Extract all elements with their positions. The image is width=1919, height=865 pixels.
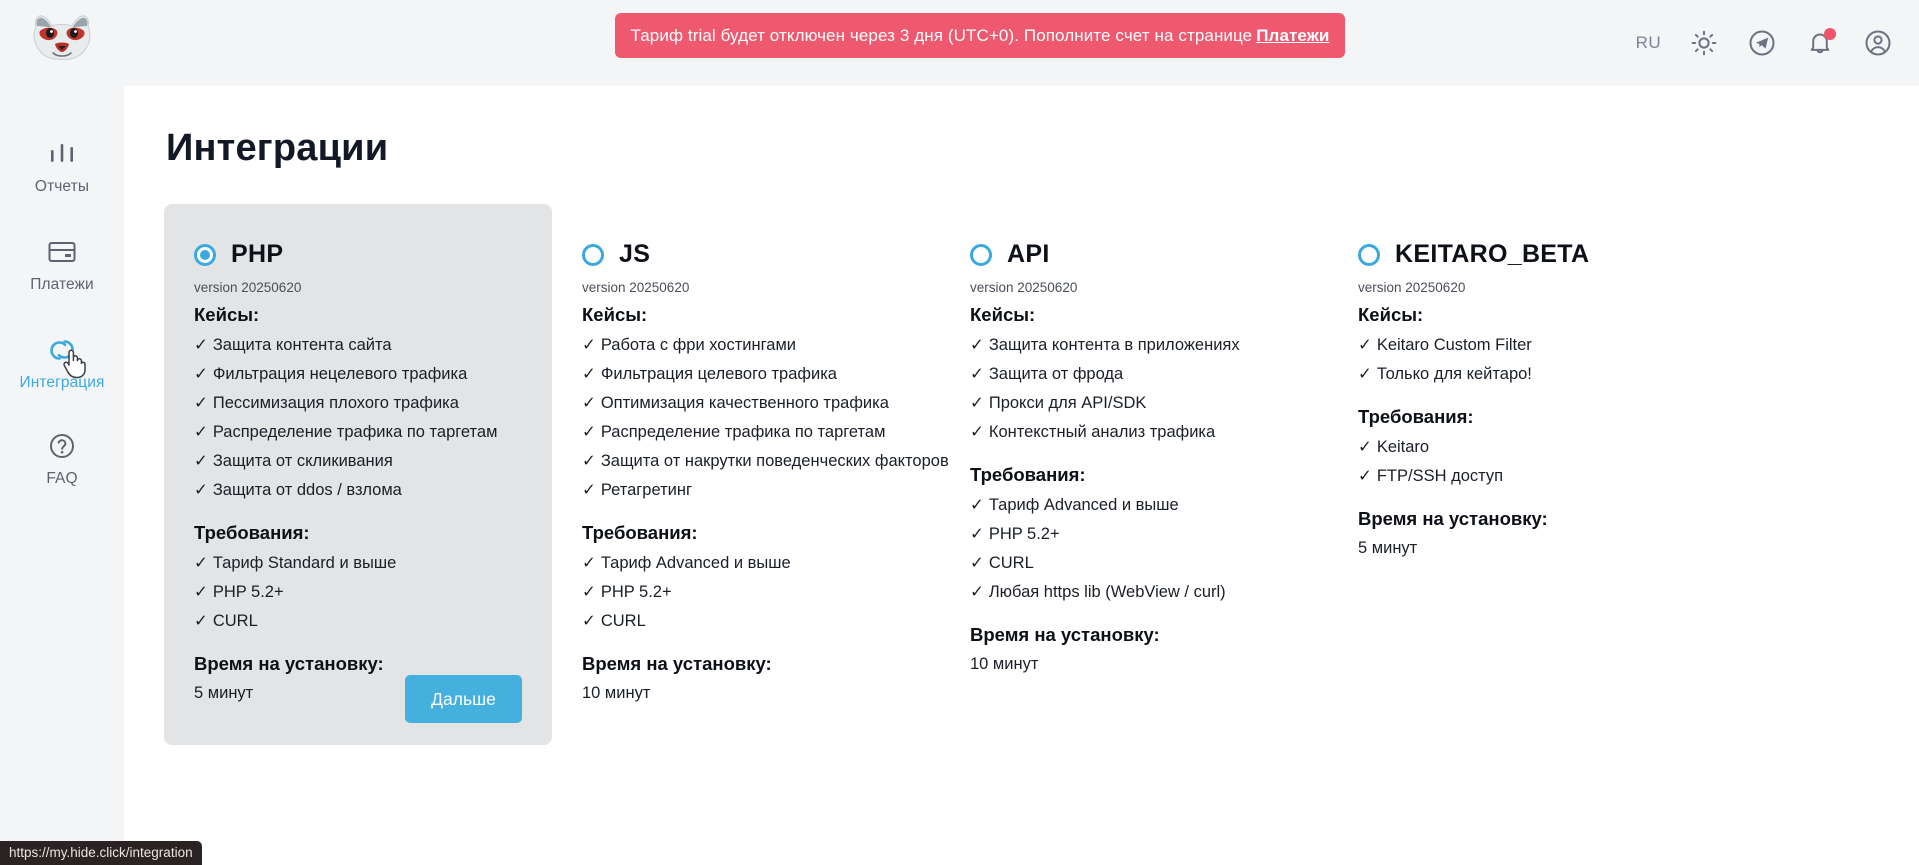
radio-button-php[interactable]: [194, 244, 216, 266]
card-title: PHP: [231, 240, 283, 269]
case-item: ✓Контекстный анализ трафика: [970, 422, 1298, 442]
install-time-value: 10 минут: [582, 684, 910, 703]
requirement-item: ✓Любая https lib (WebView / curl): [970, 582, 1298, 602]
page-title: Интеграции: [166, 127, 1919, 170]
requirement-item: ✓Тариф Advanced и выше: [582, 553, 910, 573]
card-header: PHP: [194, 240, 522, 269]
topbar: Тариф trial будет отключен через 3 дня (…: [124, 0, 1919, 86]
card-version: version 20250620: [194, 280, 522, 295]
requirement-item: ✓Keitaro: [1358, 437, 1686, 457]
requirements-heading: Требования:: [970, 464, 1298, 486]
banner-payments-link[interactable]: Платежи: [1256, 26, 1329, 46]
integration-card-php[interactable]: PHP version 20250620 Кейсы: ✓Защита конт…: [164, 204, 552, 745]
notification-badge: [1824, 28, 1836, 40]
case-item: ✓Распределение трафика по таргетам: [194, 422, 522, 442]
topbar-icons: RU: [1636, 0, 1893, 86]
card-header: API: [970, 240, 1298, 269]
card-title: KEITARO_BETA: [1395, 240, 1589, 269]
language-switcher[interactable]: RU: [1636, 33, 1661, 53]
cases-heading: Кейсы:: [194, 304, 522, 326]
requirement-item: ✓PHP 5.2+: [194, 582, 522, 602]
requirement-item: ✓CURL: [194, 611, 522, 631]
integration-card-api[interactable]: API version 20250620 Кейсы: ✓Защита конт…: [940, 204, 1328, 745]
main-content: Интеграции PHP version 20250620 Кейсы: ✓…: [124, 86, 1919, 865]
requirement-item: ✓CURL: [582, 611, 910, 631]
sidebar-item-reports[interactable]: Отчеты: [0, 124, 124, 206]
card-header: JS: [582, 240, 910, 269]
cases-heading: Кейсы:: [582, 304, 910, 326]
requirements-heading: Требования:: [582, 522, 910, 544]
requirement-item: ✓PHP 5.2+: [970, 524, 1298, 544]
sidebar-item-label: Отчеты: [35, 178, 89, 196]
requirements-heading: Требования:: [1358, 406, 1686, 428]
sidebar-nav: Отчеты Платежи: [0, 124, 124, 498]
card-title: API: [1007, 240, 1050, 269]
case-item: ✓Только для кейтаро!: [1358, 364, 1686, 384]
case-item: ✓Защита от ddos / взлома: [194, 480, 522, 500]
case-item: ✓Распределение трафика по таргетам: [582, 422, 910, 442]
install-time-heading: Время на установку:: [194, 653, 522, 675]
credit-card-icon: [46, 235, 78, 269]
integration-card-keitaro-beta[interactable]: KEITARO_BETA version 20250620 Кейсы: ✓Ke…: [1328, 204, 1716, 745]
sidebar-item-payments[interactable]: Платежи: [0, 222, 124, 304]
case-item: ✓Защита контента сайта: [194, 335, 522, 355]
requirement-item: ✓PHP 5.2+: [582, 582, 910, 602]
install-time-value: 10 минут: [970, 655, 1298, 674]
requirements-heading: Требования:: [194, 522, 522, 544]
requirement-item: ✓Тариф Advanced и выше: [970, 495, 1298, 515]
radio-button-api[interactable]: [970, 244, 992, 266]
sun-theme-icon[interactable]: [1689, 28, 1719, 58]
trial-warning-banner: Тариф trial будет отключен через 3 дня (…: [615, 13, 1345, 58]
sidebar-item-label: FAQ: [46, 470, 77, 488]
case-item: ✓Ретагретинг: [582, 480, 910, 500]
install-time-heading: Время на установку:: [582, 653, 910, 675]
radio-button-js[interactable]: [582, 244, 604, 266]
integration-card-js[interactable]: JS version 20250620 Кейсы: ✓Работа с фри…: [552, 204, 940, 745]
install-time-heading: Время на установку:: [970, 624, 1298, 646]
card-title: JS: [619, 240, 650, 269]
sidebar-item-label: Интеграция: [19, 374, 104, 392]
requirement-item: ✓Тариф Standard и выше: [194, 553, 522, 573]
radio-button-keitaro-beta[interactable]: [1358, 244, 1380, 266]
sidebar-item-faq[interactable]: FAQ: [0, 416, 124, 498]
cases-heading: Кейсы:: [1358, 304, 1686, 326]
requirement-item: ✓FTP/SSH доступ: [1358, 466, 1686, 486]
card-version: version 20250620: [582, 280, 910, 295]
card-version: version 20250620: [1358, 280, 1686, 295]
banner-text: Тариф trial будет отключен через 3 дня (…: [631, 26, 1253, 46]
case-item: ✓Фильтрация целевого трафика: [582, 364, 910, 384]
case-item: ✓Фильтрация нецелевого трафика: [194, 364, 522, 384]
case-item: ✓Пессимизация плохого трафика: [194, 393, 522, 413]
raccoon-logo-icon[interactable]: [29, 12, 95, 66]
cases-heading: Кейсы:: [970, 304, 1298, 326]
telegram-icon[interactable]: [1747, 28, 1777, 58]
case-item: ✓Keitaro Custom Filter: [1358, 335, 1686, 355]
question-circle-icon: [47, 429, 77, 463]
app-root: Отчеты Платежи: [0, 0, 1919, 865]
card-header: KEITARO_BETA: [1358, 240, 1686, 269]
status-bar-url: https://my.hide.click/integration: [0, 841, 202, 865]
integration-cards: PHP version 20250620 Кейсы: ✓Защита конт…: [124, 204, 1919, 745]
case-item: ✓Защита от фрода: [970, 364, 1298, 384]
notification-bell-icon[interactable]: [1805, 28, 1835, 58]
sidebar-item-integration[interactable]: Интеграция: [0, 320, 124, 402]
sidebar: Отчеты Платежи: [0, 0, 124, 865]
user-account-icon[interactable]: [1863, 28, 1893, 58]
bar-chart-icon: [47, 137, 77, 171]
case-item: ✓Работа с фри хостингами: [582, 335, 910, 355]
case-item: ✓Прокси для API/SDK: [970, 393, 1298, 413]
sidebar-item-label: Платежи: [30, 276, 94, 294]
case-item: ✓Оптимизация качественного трафика: [582, 393, 910, 413]
card-version: version 20250620: [970, 280, 1298, 295]
link-chain-icon: [45, 333, 79, 367]
next-button[interactable]: Дальше: [405, 675, 522, 723]
install-time-value: 5 минут: [1358, 539, 1686, 558]
case-item: ✓Защита от скликивания: [194, 451, 522, 471]
case-item: ✓Защита контента в приложениях: [970, 335, 1298, 355]
case-item: ✓Защита от накрутки поведенческих фактор…: [582, 451, 910, 471]
requirement-item: ✓CURL: [970, 553, 1298, 573]
install-time-heading: Время на установку:: [1358, 508, 1686, 530]
